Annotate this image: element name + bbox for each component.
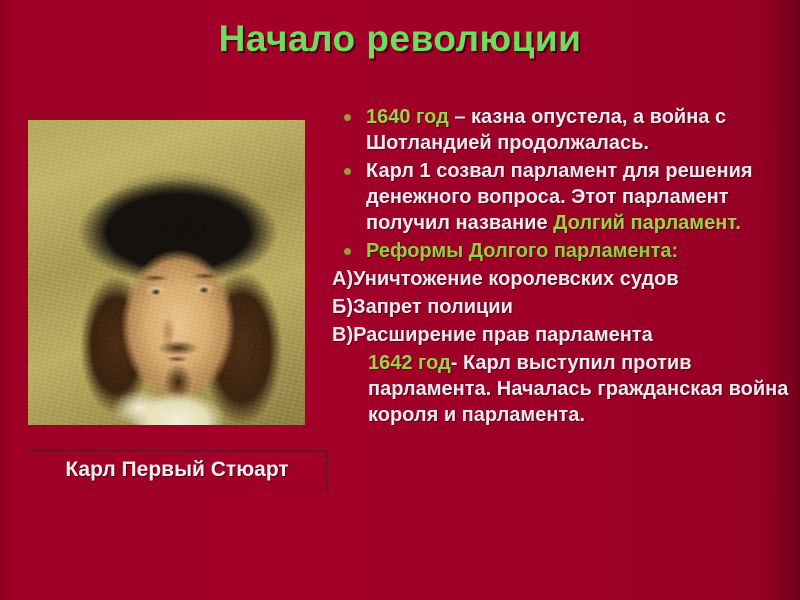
presentation-slide: Начало революции Карл Первый Стюарт 1640… (0, 0, 800, 600)
lettered-item-a: А) Уничтожение королевских судов (330, 266, 792, 292)
lettered-item-v-label: В) (332, 322, 353, 348)
bullet-item-1: 1640 год – казна опустела, а война с Шот… (330, 104, 792, 156)
bullet-item-2: Карл 1 созвал парламент для решения дене… (330, 158, 792, 236)
bullet-dot-icon (344, 248, 351, 255)
year-1640-highlight: 1640 год (366, 106, 449, 128)
lettered-item-a-text: Уничтожение королевских судов (353, 266, 792, 292)
lettered-item-b-text: Запрет полиции (353, 294, 792, 320)
bullet-dot-icon (344, 114, 351, 121)
long-parliament-highlight: Долгий парламент. (553, 212, 741, 234)
page-title: Начало революции (0, 18, 800, 60)
lettered-item-b: Б) Запрет полиции (330, 294, 792, 320)
year-1642-highlight: 1642 год (368, 352, 451, 374)
lettered-item-v-text: Расширение прав парламента (353, 322, 792, 348)
lettered-item-a-label: А) (332, 266, 353, 292)
lettered-item-b-label: Б) (332, 294, 353, 320)
bullet-item-3: Реформы Долгого парламента: (330, 238, 792, 264)
slide-body-content: 1640 год – казна опустела, а война с Шот… (330, 104, 792, 430)
bullet-dot-icon (344, 168, 351, 175)
reforms-heading-text: Реформы Долгого парламента: (366, 240, 678, 262)
portrait-image (28, 120, 305, 425)
portrait-caption-box: Карл Первый Стюарт (27, 450, 327, 490)
portrait-caption-label: Карл Первый Стюарт (65, 458, 288, 482)
portrait-painting (28, 120, 305, 425)
closing-paragraph: 1642 год- Карл выступил против парламент… (330, 350, 792, 428)
lettered-item-v: В) Расширение прав парламента (330, 322, 792, 348)
